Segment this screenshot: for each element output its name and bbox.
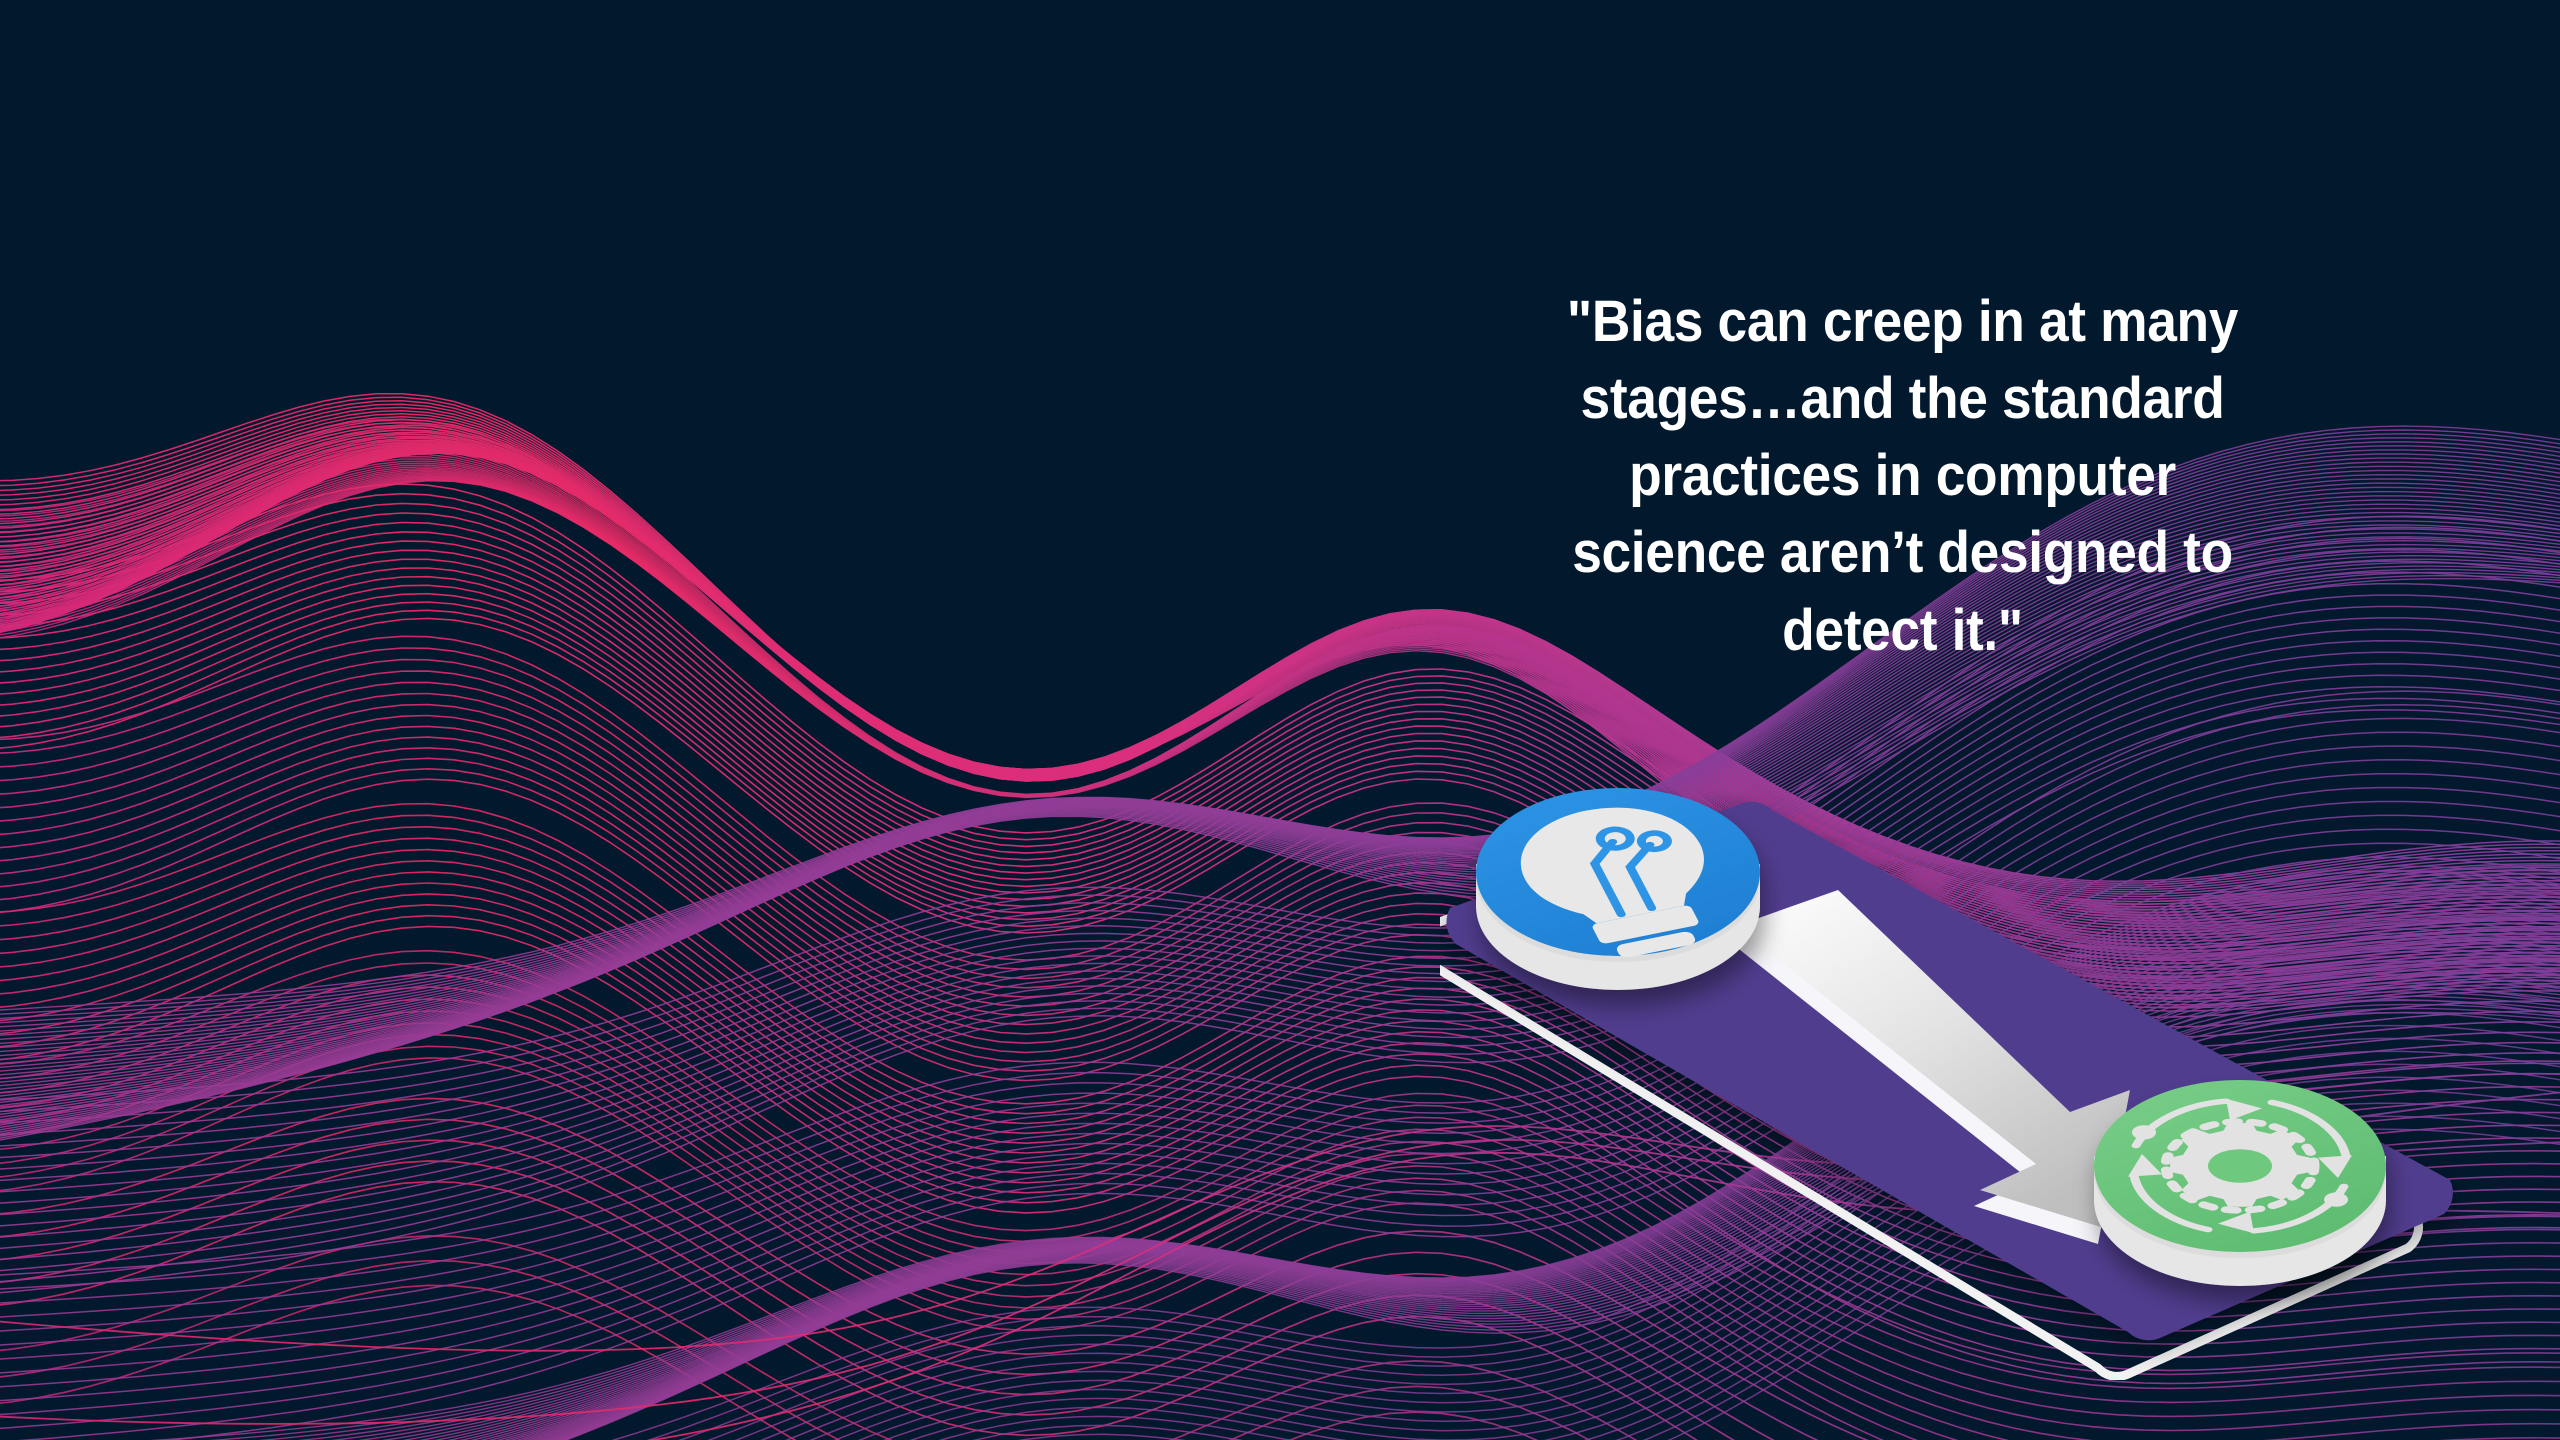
quote-block: "Bias can creep in at many stages…and th… <box>1455 283 2350 669</box>
automation-disc <box>2094 1080 2386 1286</box>
card-graphic <box>1440 760 2500 1380</box>
quote-text: "Bias can creep in at many stages…and th… <box>1491 283 2314 669</box>
idea-disc <box>1476 788 1760 990</box>
slide-canvas: "Bias can creep in at many stages…and th… <box>0 0 2560 1440</box>
